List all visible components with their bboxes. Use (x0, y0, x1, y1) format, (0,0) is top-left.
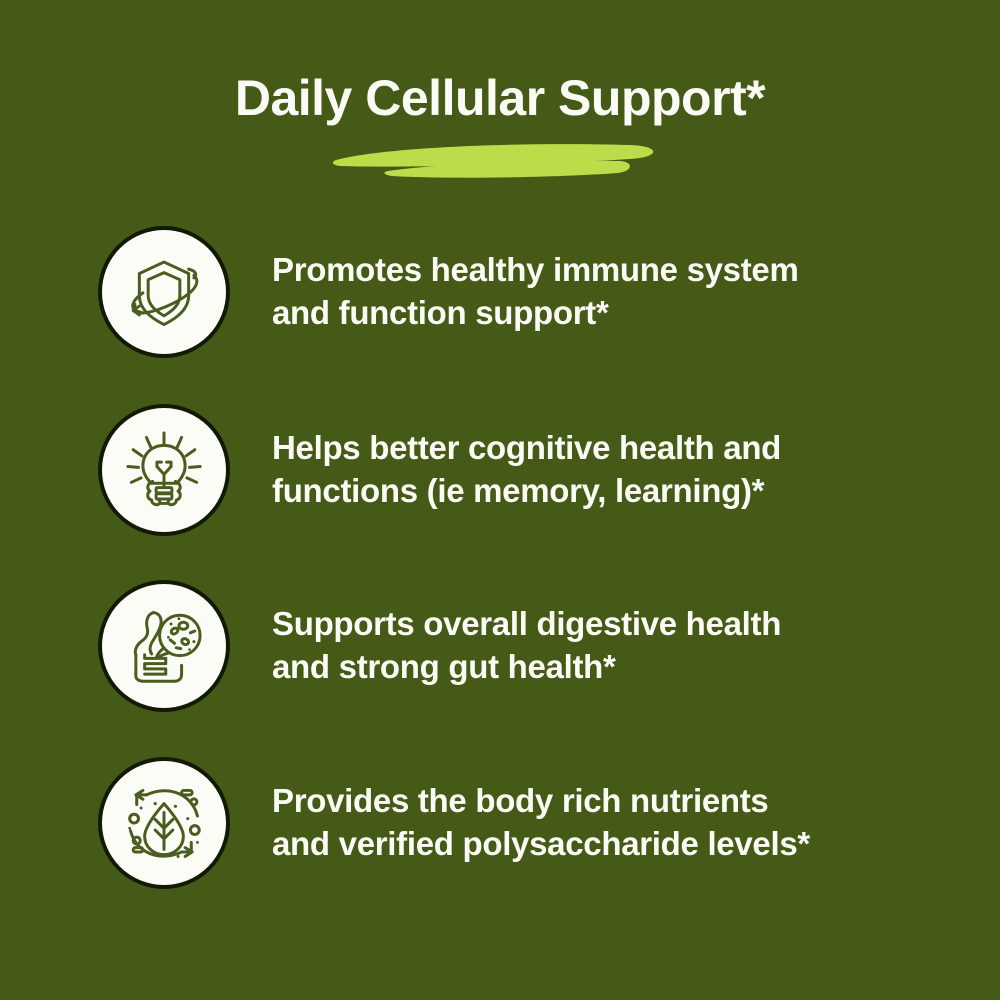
benefit-row: Supports overall digestive health and st… (98, 579, 958, 713)
benefit-text: Promotes healthy immune system and funct… (272, 249, 799, 335)
leaf-droplet-recycle-icon (120, 779, 208, 867)
benefit-row: Promotes healthy immune system and funct… (98, 225, 958, 359)
digestive-microbiome-icon (120, 602, 208, 690)
benefit-icon-circle (98, 580, 230, 712)
benefit-text: Helps better cognitive health and functi… (272, 427, 781, 513)
benefit-text-line-1: Supports overall digestive health (272, 603, 781, 646)
promo-panel: Daily Cellular Support* Promotes healthy… (0, 0, 1000, 1000)
benefit-text-line-1: Promotes healthy immune system (272, 249, 799, 292)
header: Daily Cellular Support* (0, 72, 1000, 125)
lightbulb-brain-icon (120, 426, 208, 514)
benefit-row: Helps better cognitive health and functi… (98, 403, 958, 537)
page-title: Daily Cellular Support* (0, 72, 1000, 125)
benefit-icon-circle (98, 226, 230, 358)
brush-underline-icon (330, 138, 670, 178)
benefit-text-line-2: and function support* (272, 292, 799, 335)
benefit-text-line-2: functions (ie memory, learning)* (272, 470, 781, 513)
benefit-text-line-2: and verified polysaccharide levels* (272, 823, 810, 866)
benefit-row: Provides the body rich nutrients and ver… (98, 756, 958, 890)
benefit-text: Supports overall digestive health and st… (272, 603, 781, 689)
benefit-icon-circle (98, 404, 230, 536)
benefit-icon-circle (98, 757, 230, 889)
benefit-text: Provides the body rich nutrients and ver… (272, 780, 810, 866)
benefit-text-line-1: Provides the body rich nutrients (272, 780, 810, 823)
shield-orbit-icon (120, 248, 208, 336)
benefit-text-line-2: and strong gut health* (272, 646, 781, 689)
benefit-text-line-1: Helps better cognitive health and (272, 427, 781, 470)
